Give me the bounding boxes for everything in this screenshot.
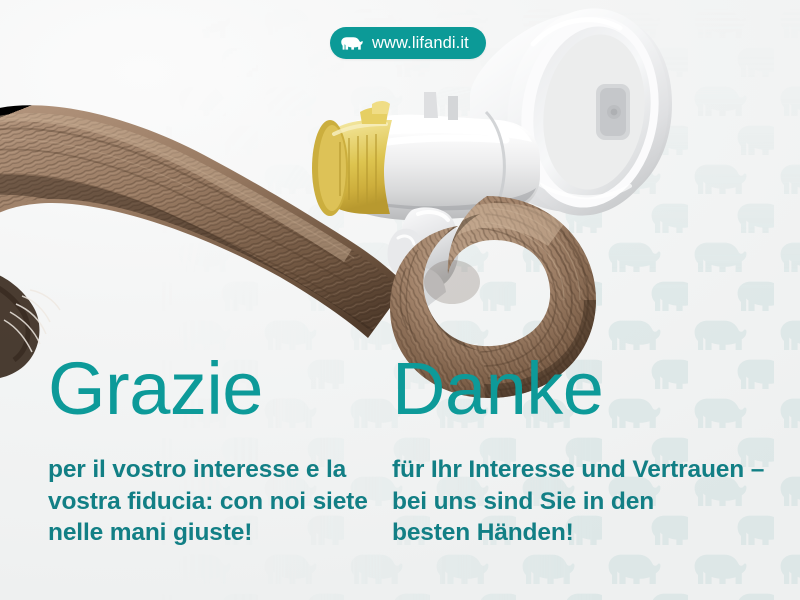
headline-german: Danke <box>392 352 772 426</box>
copy-block: Grazie per il vostro interesse e la vost… <box>0 0 800 600</box>
body-italian: per il vostro interesse e la vostra fidu… <box>48 454 378 549</box>
column-german: Danke für Ihr Interesse und Vertrauen – … <box>392 352 772 549</box>
headline-italian: Grazie <box>48 352 378 426</box>
column-italian: Grazie per il vostro interesse e la vost… <box>48 352 378 549</box>
website-url: www.lifandi.it <box>372 35 469 52</box>
poster: www.lifandi.it Grazie per il vostro inte… <box>0 0 800 600</box>
elephant-icon <box>341 35 363 52</box>
website-badge[interactable]: www.lifandi.it <box>330 27 486 59</box>
body-german: für Ihr Interesse und Vertrauen – bei un… <box>392 454 772 549</box>
